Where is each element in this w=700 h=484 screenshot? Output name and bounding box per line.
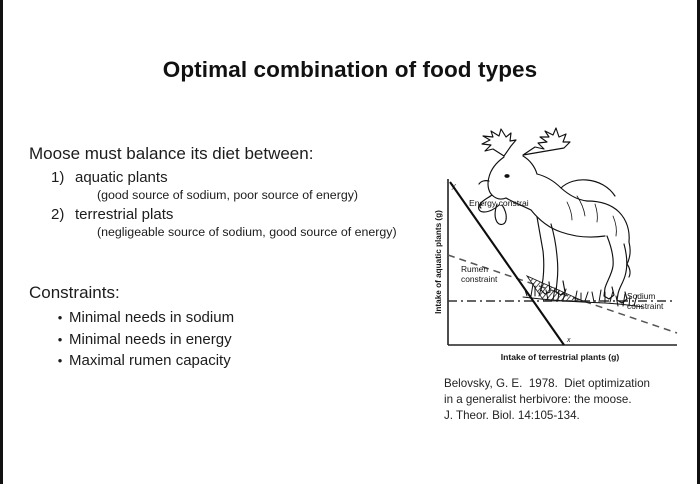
list-item: 1) aquatic plants (good source of sodium… — [29, 169, 429, 203]
numbered-row: 1) aquatic plants — [29, 169, 429, 186]
list-note: (negligeable source of sodium, good sour… — [29, 225, 429, 240]
bullet-icon: • — [51, 352, 69, 370]
list-label: aquatic plants — [75, 169, 168, 186]
diet-constraint-chart: y x Energy constrai Rumen constraint Sod… — [427, 124, 685, 364]
constraints-list: • Minimal needs in sodium • Minimal need… — [29, 309, 429, 370]
bullet-icon: • — [51, 331, 69, 349]
moose-illustration — [479, 128, 643, 307]
citation-line: J. Theor. Biol. 14:105-134. — [444, 408, 694, 424]
rumen-constraint-label-line1: Rumen — [461, 264, 488, 274]
list-label: terrestrial plats — [75, 206, 173, 223]
sodium-constraint-label-line1: Sodium — [627, 291, 655, 301]
constraints-block: Constraints: • Minimal needs in sodium •… — [29, 283, 429, 370]
list-item: • Minimal needs in sodium — [29, 309, 429, 327]
diet-lead-text: Moose must balance its diet between: — [29, 143, 429, 164]
list-note: (good source of sodium, poor source of e… — [29, 188, 429, 203]
bullet-icon: • — [51, 309, 69, 327]
list-item: 2) terrestrial plats (negligeable source… — [29, 206, 429, 240]
constraint-label: Maximal rumen capacity — [69, 352, 231, 370]
list-item: • Maximal rumen capacity — [29, 352, 429, 370]
citation-line: in a generalist herbivore: the moose. — [444, 392, 694, 408]
numbered-row: 2) terrestrial plats — [29, 206, 429, 223]
belovsky-figure: y x Energy constrai Rumen constraint Sod… — [427, 124, 685, 364]
energy-constraint-label: Energy constrai — [469, 198, 529, 208]
constraint-label: Minimal needs in energy — [69, 331, 232, 349]
diet-text-block: Moose must balance its diet between: 1) … — [29, 143, 429, 240]
page-title: Optimal combination of food types — [3, 57, 697, 83]
list-number: 1) — [51, 169, 75, 186]
citation-line: Belovsky, G. E. 1978. Diet optimization — [444, 376, 694, 392]
constraint-label: Minimal needs in sodium — [69, 309, 234, 327]
list-item: • Minimal needs in energy — [29, 331, 429, 349]
x-axis-title: Intake of terrestrial plants (g) — [501, 352, 620, 362]
rumen-constraint-label-line2: constraint — [461, 274, 498, 284]
constraints-heading: Constraints: — [29, 283, 429, 303]
slide-canvas: Optimal combination of food types Moose … — [0, 0, 700, 484]
list-number: 2) — [51, 206, 75, 223]
y-axis-title: Intake of aquatic plants (g) — [434, 210, 443, 314]
citation-block: Belovsky, G. E. 1978. Diet optimization … — [444, 376, 694, 424]
x-axis-tip-label: x — [566, 337, 571, 344]
diet-numbered-list: 1) aquatic plants (good source of sodium… — [29, 169, 429, 240]
